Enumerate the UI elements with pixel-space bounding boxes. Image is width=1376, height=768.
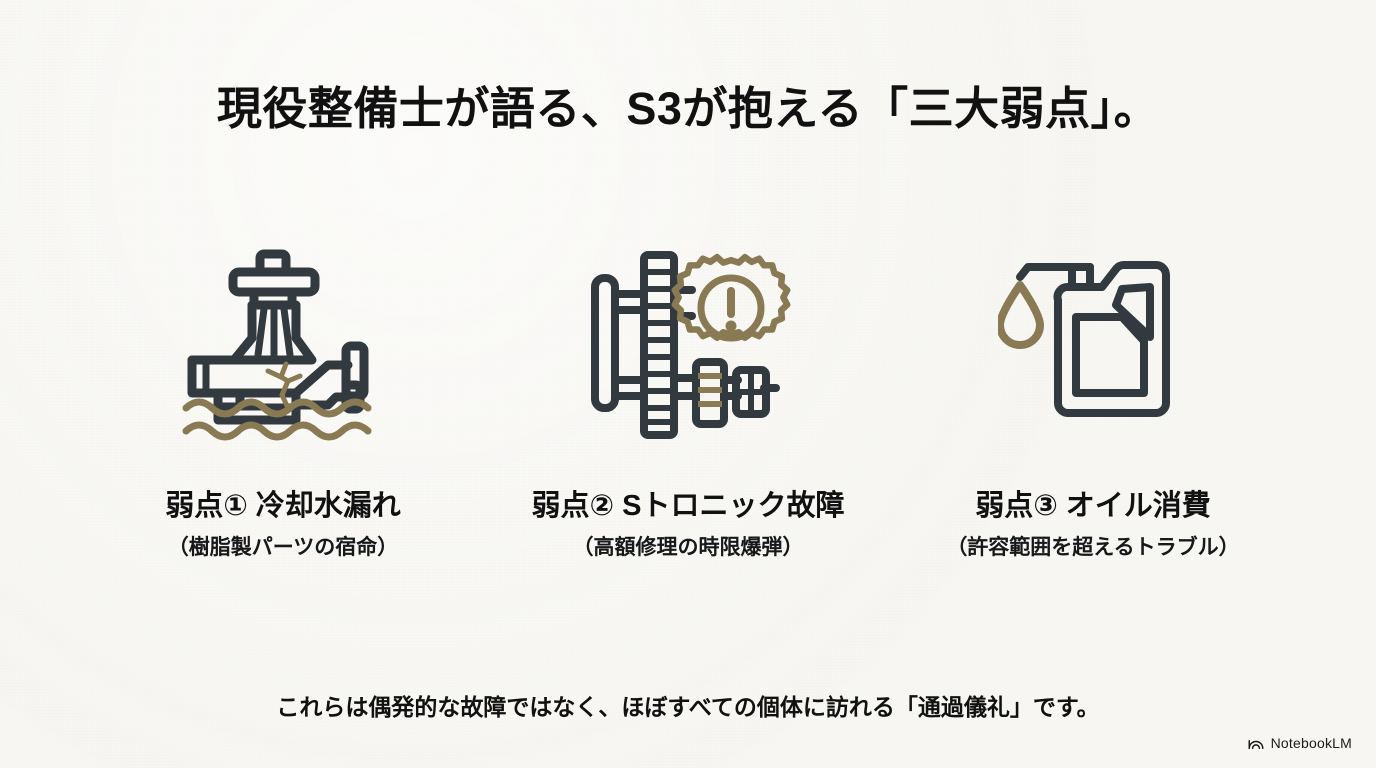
warning-gear-icon [674,257,786,338]
weakness-card-3: 弱点③ オイル消費 （許容範囲を超えるトラブル） [898,240,1288,562]
brand-name: NotebookLM [1271,735,1352,751]
weakness-card-3-sub: （許容範囲を超えるトラブル） [946,535,1239,561]
weakness-card-2-label: 弱点② Sトロニック故障 [532,488,845,524]
weakness-card-1-sub: （樹脂製パーツの宿命） [168,535,399,561]
weakness-card-1-label: 弱点① 冷却水漏れ [165,488,401,524]
cracked-water-pump-icon [178,245,388,445]
notebooklm-logo-icon [1247,734,1265,752]
brand-watermark: NotebookLM [1247,734,1352,752]
footer-note: これらは偶発的な故障ではなく、ほぼすべての個体に訪れる「通過儀礼」です。 [0,688,1376,722]
weakness-card-2-icon-box [586,240,791,450]
page-title: 現役整備士が語る、S3が抱える「三大弱点」。 [0,82,1376,136]
weakness-card-2: 弱点② Sトロニック故障 （高額修理の時限爆弾） [493,240,883,562]
oil-drop-icon [1000,285,1040,345]
slide-root: 現役整備士が語る、S3が抱える「三大弱点」。 [0,0,1376,768]
weakness-card-3-label: 弱点③ オイル消費 [975,488,1211,524]
weakness-card-3-icon-box [998,240,1188,450]
gearbox-warning-icon [586,250,791,440]
weakness-card-1: 弱点① 冷却水漏れ （樹脂製パーツの宿命） [88,240,478,562]
gear-wear-lines [698,376,722,404]
weakness-card-row: 弱点① 冷却水漏れ （樹脂製パーツの宿命） [88,240,1288,562]
weakness-card-1-icon-box [178,240,388,450]
weakness-card-2-sub: （高額修理の時限爆弾） [573,535,804,561]
oil-jerrycan-drop-icon [998,255,1188,435]
